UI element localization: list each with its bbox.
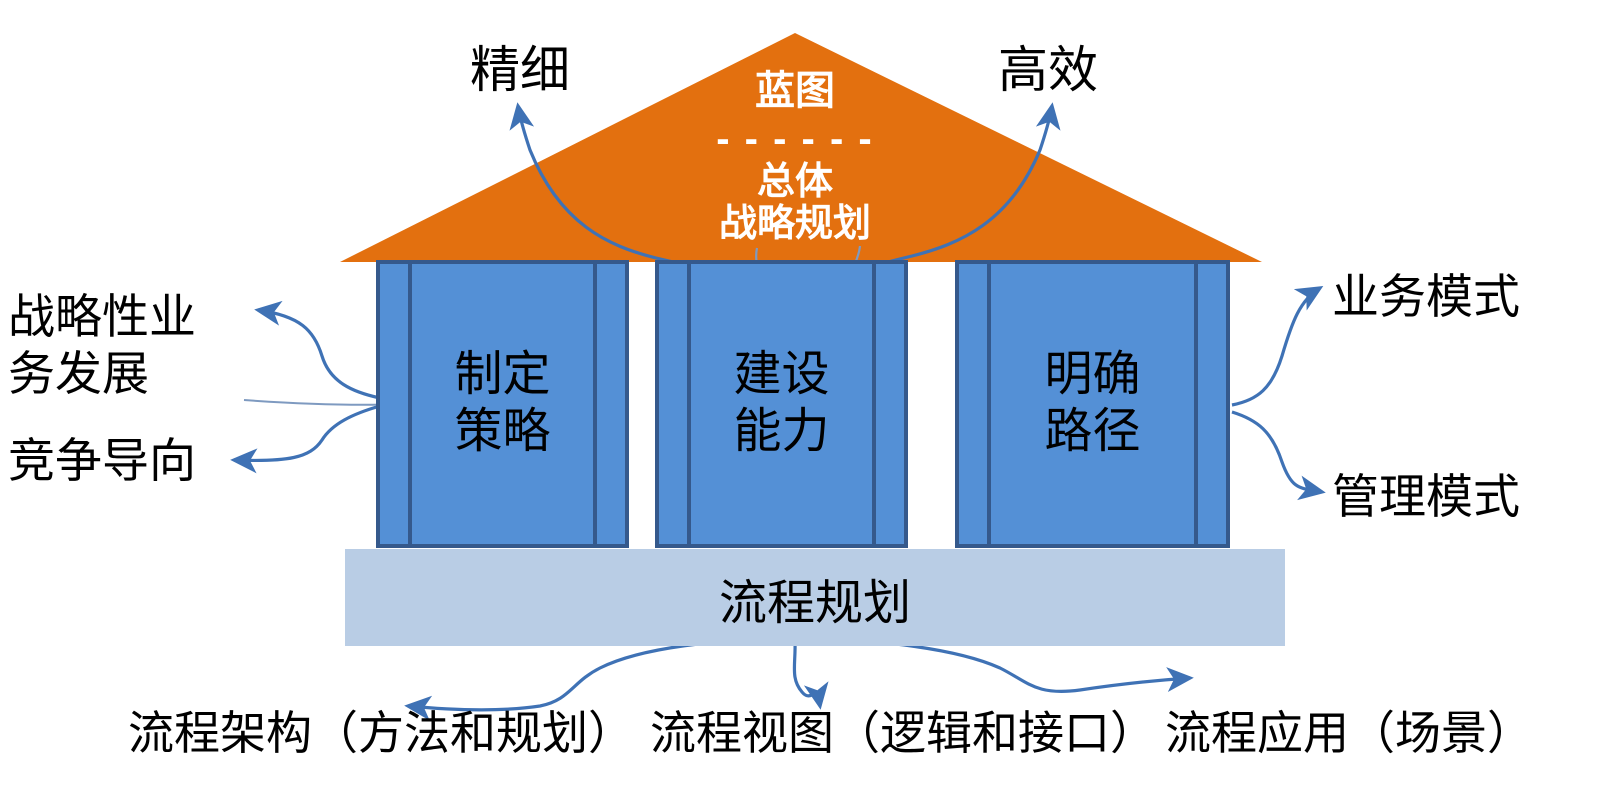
right-label-business-model: 业务模式 <box>1332 268 1520 325</box>
top-label-gaoxiao: 高效 <box>998 42 1098 98</box>
pillar-divider-left <box>408 264 412 544</box>
pillar-divider-left <box>687 264 691 544</box>
left-label-competition-oriented: 竞争导向 <box>8 432 338 489</box>
base-bar-label: 流程规划 <box>719 563 911 633</box>
arrow-to-process-application <box>800 640 1190 692</box>
roof-dashed-divider: - - - - - - <box>660 118 930 160</box>
bottom-label-process-application: 流程应用（场景） <box>1165 708 1533 760</box>
pillar-formulate-strategy[interactable]: 制定 策略 <box>376 260 629 548</box>
pillar-label: 明确 路径 <box>1044 347 1140 460</box>
bottom-label-process-architecture: 流程架构（方法和规划） <box>128 708 634 760</box>
pillar-label: 制定 策略 <box>454 347 550 460</box>
top-label-jingxi: 精细 <box>470 42 570 98</box>
pillar-clarify-path[interactable]: 明确 路径 <box>955 260 1230 548</box>
base-bar-process-planning[interactable]: 流程规划 <box>345 549 1285 646</box>
left-label-strategic-business-development: 战略性业 务发展 <box>8 288 338 403</box>
roof-title: 蓝图 <box>660 70 930 112</box>
right-label-management-model: 管理模式 <box>1332 468 1520 525</box>
bottom-label-process-view: 流程视图（逻辑和接口） <box>650 708 1156 760</box>
pillar-label: 建设 能力 <box>733 347 829 460</box>
pillar-divider-right <box>593 264 597 544</box>
pillar-build-capability[interactable]: 建设 能力 <box>655 260 908 548</box>
pillar-divider-right <box>872 264 876 544</box>
roof-subtitle-line1: 总体 <box>660 163 930 203</box>
pillar-divider-left <box>987 264 991 544</box>
arrow-to-process-view <box>794 640 820 706</box>
pillar-divider-right <box>1194 264 1198 544</box>
arrow-to-management-model <box>1232 412 1322 492</box>
arrow-to-process-architecture <box>408 640 795 710</box>
roof-subtitle-line2: 战略规划 <box>660 205 930 245</box>
arrow-to-business-model <box>1232 288 1320 405</box>
diagram-canvas: 蓝图 - - - - - - 总体 战略规划 精细 高效 制定 策略 建设 能力… <box>0 0 1599 797</box>
